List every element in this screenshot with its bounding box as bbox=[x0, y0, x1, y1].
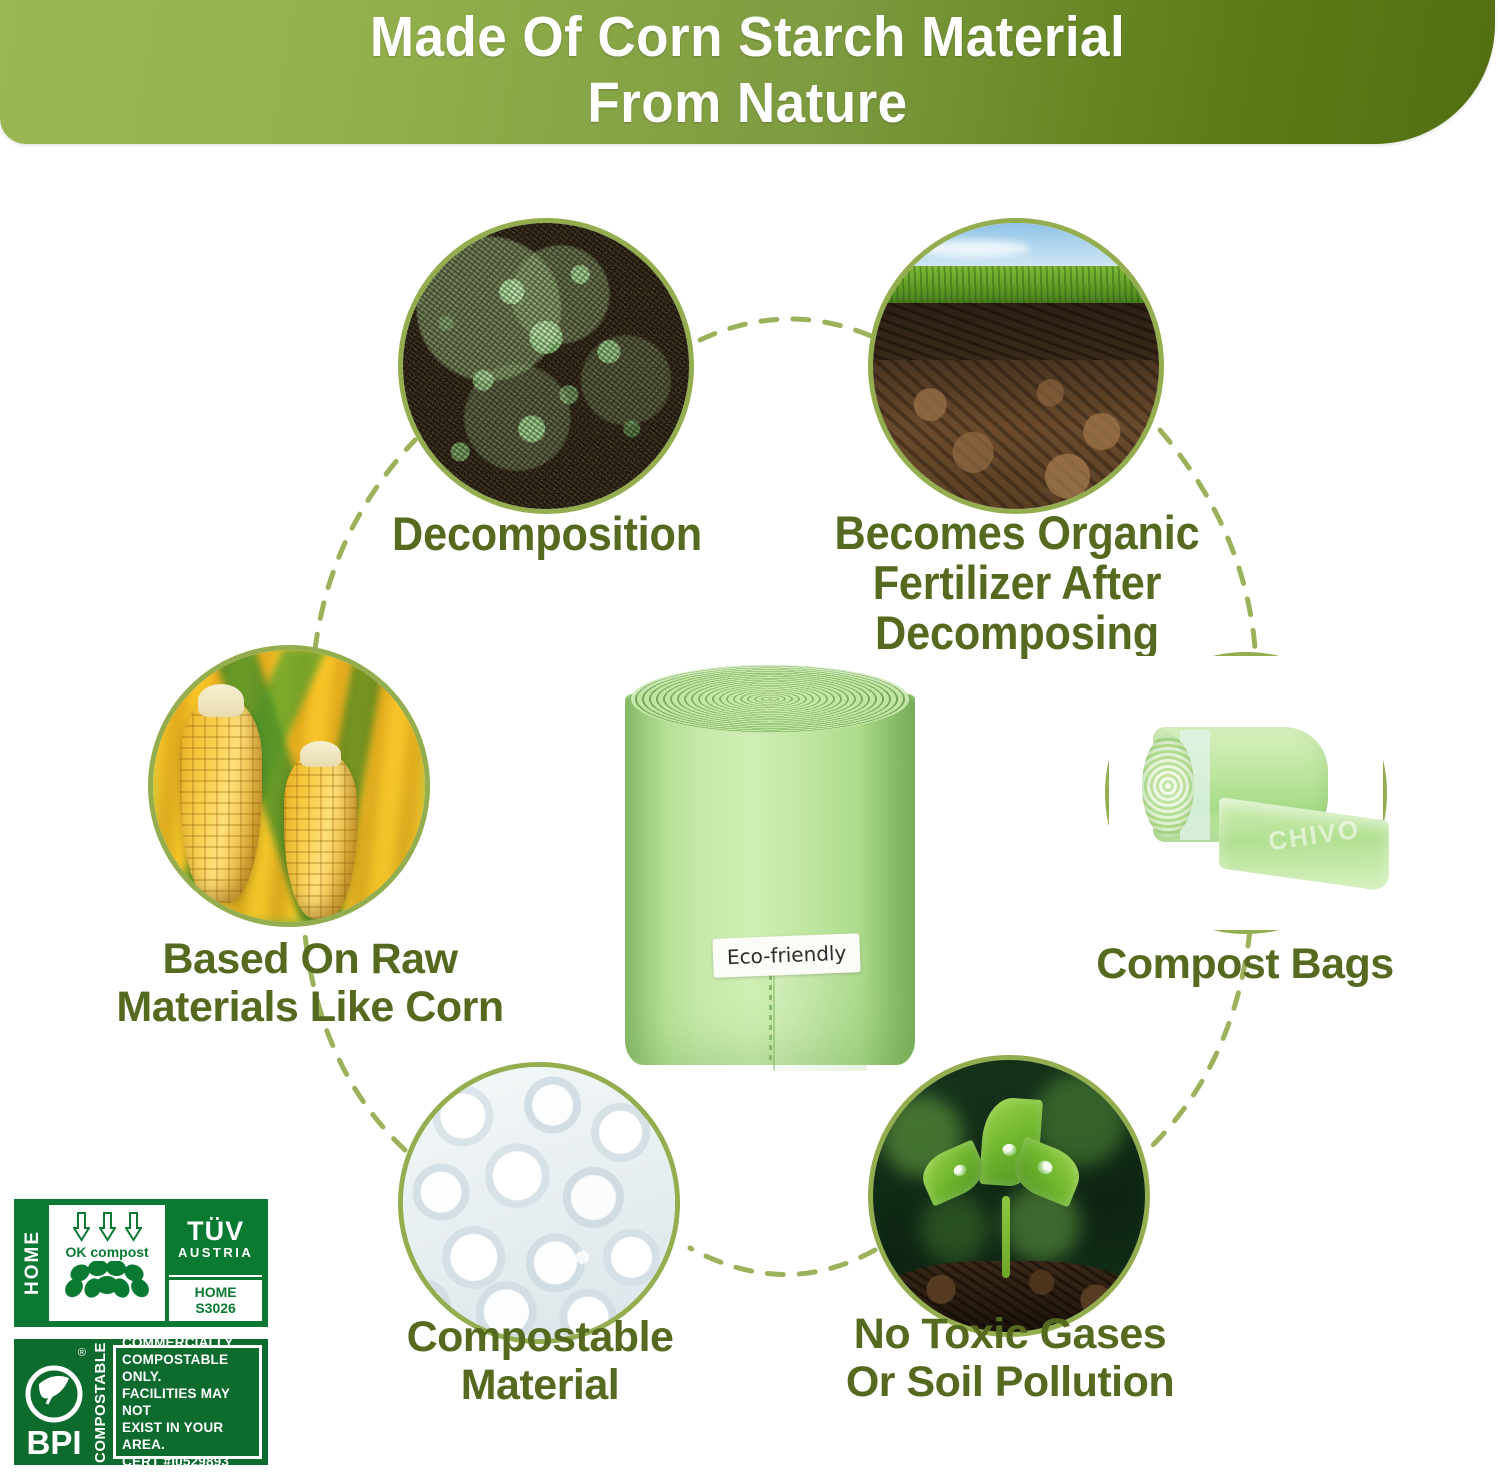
soil-cross-section-image bbox=[868, 218, 1164, 514]
tuv-home-vertical-text: HOME bbox=[20, 1205, 46, 1321]
seedling-image bbox=[868, 1055, 1150, 1337]
bpi-compostable-vertical-text: COMPOSTABLE bbox=[92, 1345, 109, 1459]
resin-pellets-image bbox=[398, 1062, 680, 1344]
flower-icon bbox=[60, 1261, 154, 1306]
product-shadow-left bbox=[625, 693, 667, 1065]
node-no-toxic-gases bbox=[868, 1055, 1150, 1337]
label-becomes-organic-fertilizer: Becomes Organic Fertilizer After Decompo… bbox=[778, 508, 1256, 658]
node-compost-bags: CHIVO bbox=[1105, 652, 1387, 934]
bpi-disclaimer-text: COMMERCIALLY COMPOSTABLE ONLY. FACILITIE… bbox=[122, 1334, 253, 1470]
page-title: Made Of Corn Starch Material From Nature bbox=[52, 4, 1442, 136]
label-compost-bags: Compost Bags bbox=[985, 940, 1500, 988]
bpi-compostable-badge: ® BPI COMPOSTABLE COMMERCIALLY COMPOSTAB… bbox=[14, 1339, 268, 1465]
decomposition-image bbox=[398, 218, 694, 514]
product-infographic: Made Of Corn Starch Material From Nature… bbox=[0, 0, 1500, 1480]
compost-bag-roll-image: CHIVO bbox=[1105, 652, 1387, 934]
tuv-region-text: AUSTRIA bbox=[178, 1245, 253, 1260]
label-based-on-raw-materials: Based On Raw Materials Like Corn bbox=[50, 935, 570, 1031]
ok-compost-text: OK compost bbox=[65, 1244, 148, 1260]
header-banner: Made Of Corn Starch Material From Nature bbox=[0, 0, 1495, 144]
bpi-letters-text: BPI bbox=[26, 1426, 81, 1459]
node-becomes-organic-fertilizer bbox=[868, 218, 1164, 514]
node-based-on-raw-materials bbox=[148, 645, 430, 927]
down-arrows-icon bbox=[73, 1212, 142, 1242]
node-compostable-material bbox=[398, 1062, 680, 1344]
arc-decomp-to-fertilizer bbox=[700, 319, 880, 340]
tuv-certificate-code: HOME S3026 bbox=[169, 1280, 262, 1321]
label-decomposition: Decomposition bbox=[308, 508, 786, 560]
bpi-leaf-circle-icon bbox=[23, 1364, 85, 1426]
corn-field-image bbox=[148, 645, 430, 927]
label-no-toxic-gases: No Toxic Gases Or Soil Pollution bbox=[750, 1310, 1270, 1406]
registered-trademark-icon: ® bbox=[78, 1347, 86, 1359]
product-shadow-right bbox=[859, 693, 915, 1065]
label-compostable-material: Compostable Material bbox=[280, 1313, 800, 1409]
tuv-austria-home-compost-badge: HOME OK compost bbox=[14, 1199, 268, 1327]
node-decomposition bbox=[398, 218, 694, 514]
tuv-brand-text: TÜV bbox=[187, 1218, 244, 1244]
product-roll: Eco-friendly bbox=[625, 655, 915, 1065]
eco-friendly-label: Eco-friendly bbox=[712, 933, 861, 978]
arc-notoxic-to-compostable bbox=[690, 1248, 875, 1275]
product-roll-top-spiral bbox=[631, 665, 909, 733]
